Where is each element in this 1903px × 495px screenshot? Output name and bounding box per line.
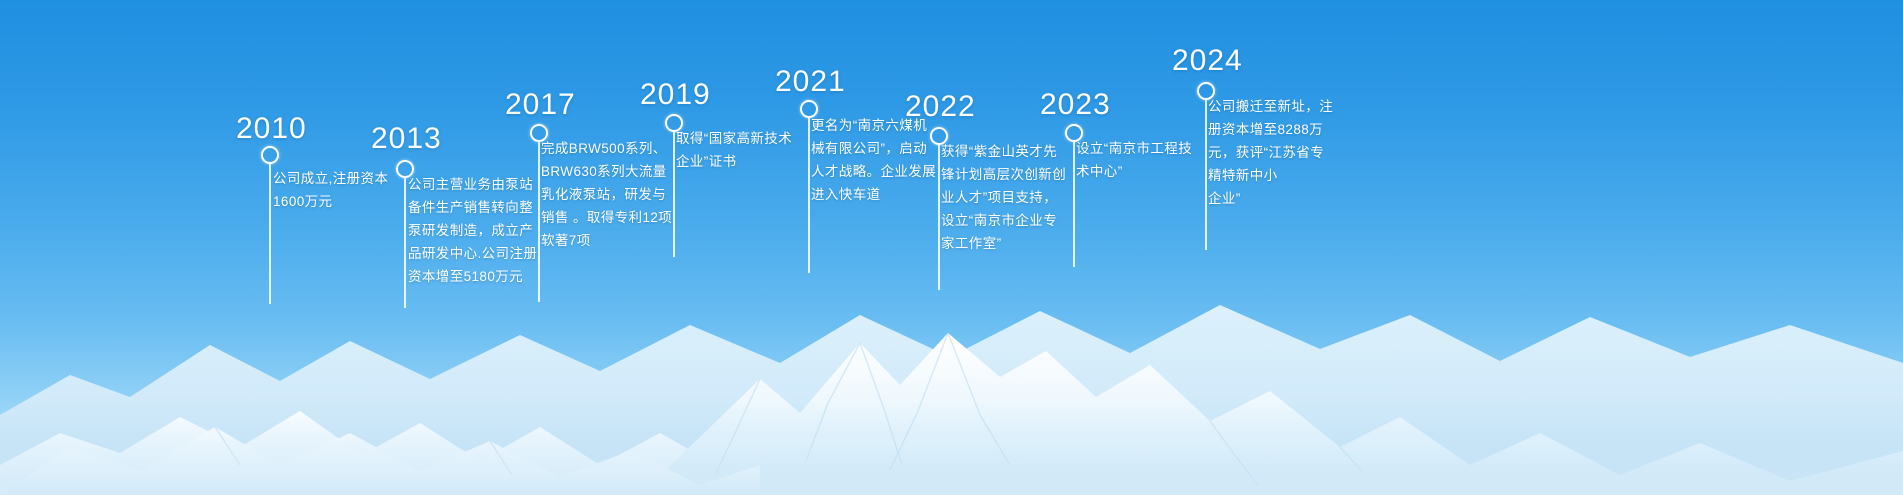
timeline-description: 更名为“南京六煤机械有限公司”，启动人才战略。企业发展进入快车道 (811, 114, 936, 206)
timeline-connector-line (808, 118, 810, 273)
timeline-description: 设立“南京市工程技术中心” (1076, 137, 1192, 183)
timeline-year-label: 2022 (905, 90, 976, 124)
timeline-description-line: 元，获评“江苏省专 (1208, 141, 1333, 164)
timeline-description: 取得“国家高新技术企业”证书 (676, 127, 792, 173)
timeline-description-line: 锋计划高层次创新创 (941, 163, 1066, 186)
timeline-description-line: 业人才”项目支持， (941, 186, 1066, 209)
timeline-description-line: 人才战略。企业发展 (811, 160, 936, 183)
timeline-description-line: 取得“国家高新技术 (676, 127, 792, 150)
timeline-connector-line (1073, 142, 1075, 267)
timeline-description-line: 获得“紫金山英才先 (941, 140, 1066, 163)
timeline-description-line: 软著7项 (541, 229, 672, 252)
timeline-description-line: 公司成立,注册资本 (273, 167, 388, 190)
timeline-description-line: 1600万元 (273, 190, 388, 213)
timeline-description: 公司搬迁至新址，注册资本增至8288万元，获评“江苏省专精特新中小企业” (1208, 95, 1333, 210)
timeline-description: 获得“紫金山英才先锋计划高层次创新创业人才”项目支持，设立“南京市企业专家工作室… (941, 140, 1066, 255)
timeline-description-line: 泵研发制造，成立产 (408, 219, 537, 242)
timeline-year-label: 2021 (775, 65, 846, 99)
timeline-description-line: 设立“南京市企业专 (941, 209, 1066, 232)
timeline-description-line: 进入快车道 (811, 183, 936, 206)
timeline-description-line: 械有限公司”，启动 (811, 137, 936, 160)
timeline-connector-line (1205, 100, 1207, 250)
timeline-description-line: 销售 。取得专利12项 (541, 206, 672, 229)
timeline-description-line: BRW630系列大流量 (541, 160, 672, 183)
timeline-description-line: 完成BRW500系列、 (541, 137, 672, 160)
timeline-description-line: 公司搬迁至新址，注 (1208, 95, 1333, 118)
timeline-description-line: 资本增至5180万元 (408, 265, 537, 288)
timeline-connector-line (538, 142, 540, 302)
timeline-year-label: 2013 (371, 122, 442, 156)
timeline-description-line: 册资本增至8288万 (1208, 118, 1333, 141)
timeline-connector-line (269, 164, 271, 304)
timeline-description-line: 设立“南京市工程技 (1076, 137, 1192, 160)
timeline-description-line: 备件生产销售转向整 (408, 196, 537, 219)
timeline-description-line: 精特新中小 (1208, 164, 1333, 187)
timeline-description: 完成BRW500系列、BRW630系列大流量乳化液泵站，研发与销售 。取得专利1… (541, 137, 672, 252)
timeline-description-line: 乳化液泵站，研发与 (541, 183, 672, 206)
timeline-year-label: 2024 (1172, 44, 1243, 78)
timeline-description-line: 企业” (1208, 187, 1333, 210)
timeline-description-line: 家工作室” (941, 232, 1066, 255)
timeline-description-line: 企业”证书 (676, 150, 792, 173)
timeline-description-line: 公司主营业务由泵站 (408, 173, 537, 196)
timeline-description-line: 品研发中心.公司注册 (408, 242, 537, 265)
timeline-connector-line (404, 178, 406, 308)
timeline-infographic: 2010公司成立,注册资本1600万元2013公司主营业务由泵站备件生产销售转向… (0, 0, 1903, 495)
timeline-description: 公司主营业务由泵站备件生产销售转向整泵研发制造，成立产品研发中心.公司注册资本增… (408, 173, 537, 288)
timeline-year-label: 2010 (236, 112, 307, 146)
timeline-connector-line (938, 145, 940, 290)
timeline-year-label: 2019 (640, 78, 711, 112)
timeline-year-label: 2023 (1040, 88, 1111, 122)
timeline-description: 公司成立,注册资本1600万元 (273, 167, 388, 213)
timeline-connector-line (673, 132, 675, 257)
timeline-description-line: 术中心” (1076, 160, 1192, 183)
timeline-year-label: 2017 (505, 88, 576, 122)
timeline-node-dot-icon (261, 146, 279, 164)
